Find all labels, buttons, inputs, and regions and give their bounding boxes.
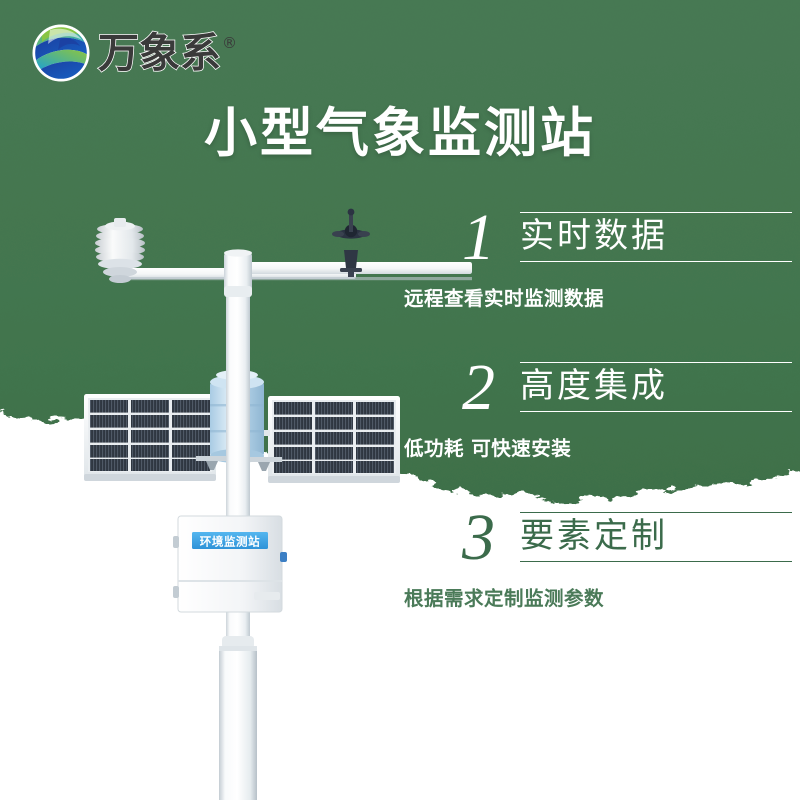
enclosure-label: 环境监测站 bbox=[192, 532, 268, 549]
weather-station-foreground: 环境监测站 bbox=[0, 0, 800, 800]
controller-enclosure: 环境监测站 bbox=[173, 516, 287, 612]
svg-text:环境监测站: 环境监测站 bbox=[200, 535, 261, 549]
product-poster: 万象系 ® 小型气象监测站 bbox=[0, 0, 800, 800]
